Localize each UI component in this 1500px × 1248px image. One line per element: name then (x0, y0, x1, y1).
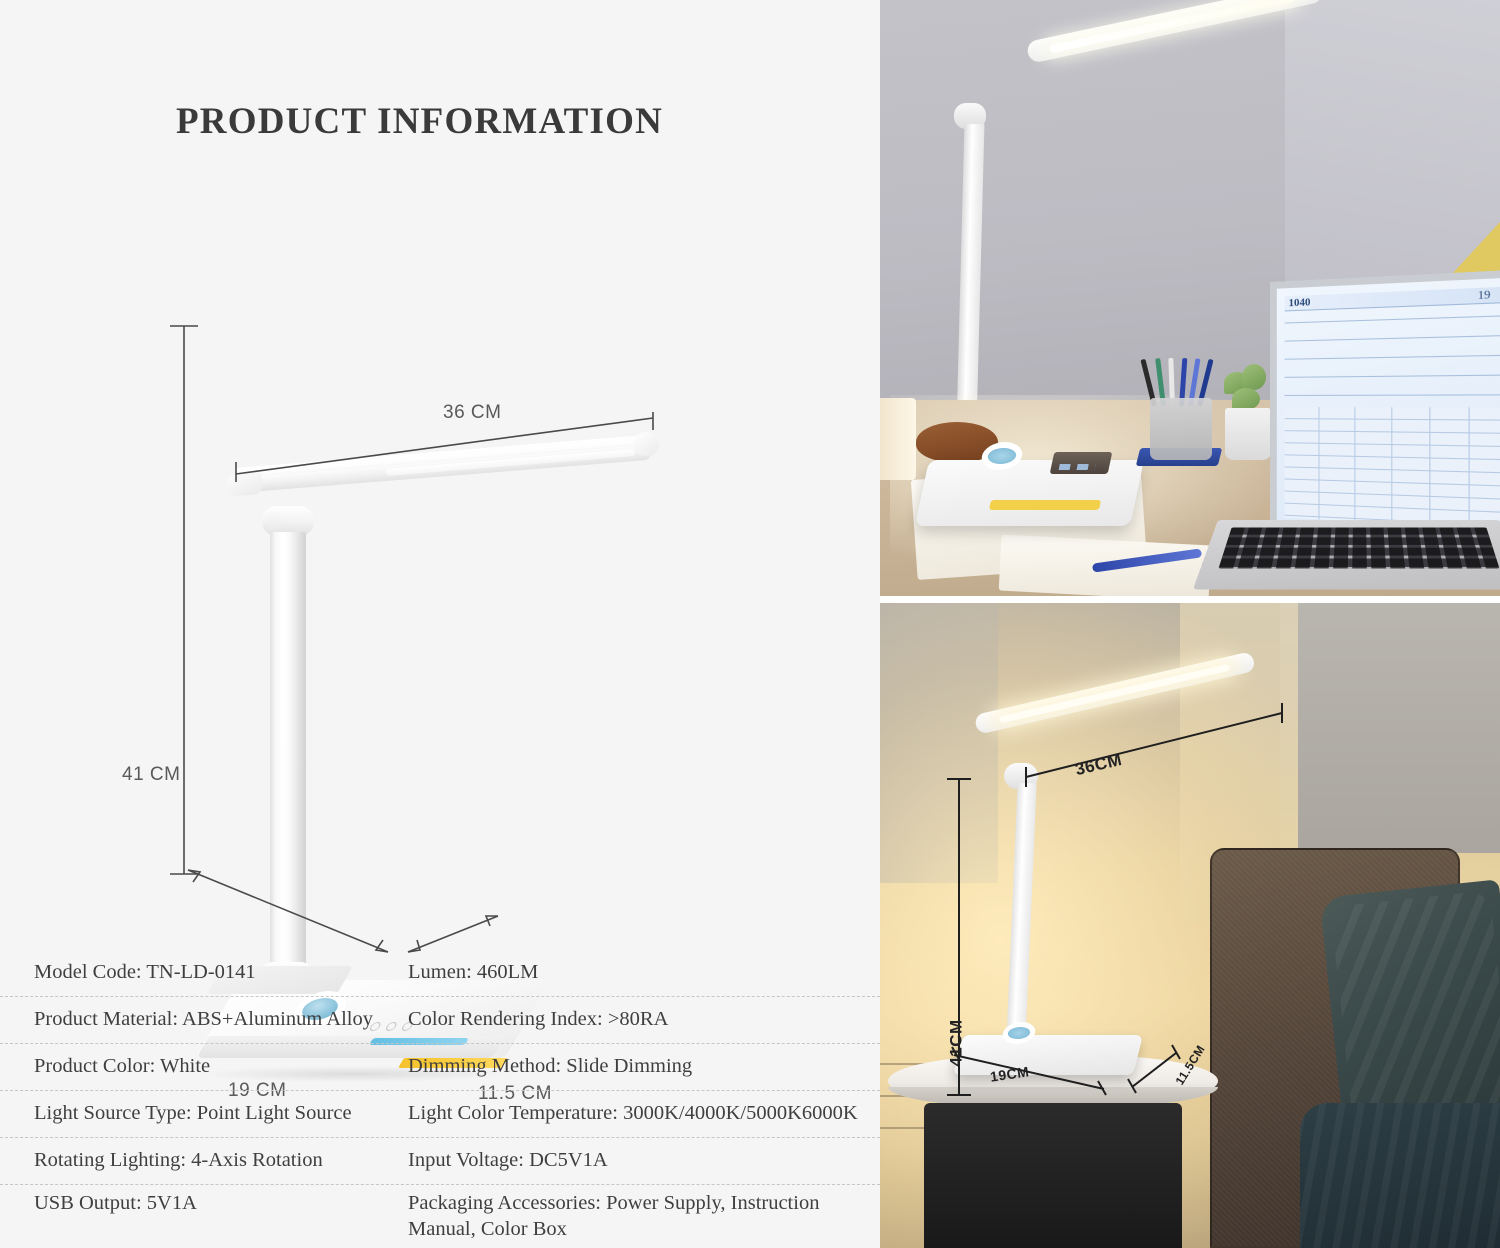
form-rule (1285, 315, 1500, 324)
spec-light-source-type: Light Source Type: Point Light Source (0, 1101, 374, 1127)
table-row: USB Output: 5V1A Packaging Accessories: … (0, 1185, 880, 1242)
photo-base-dimension-lines (946, 1031, 1216, 1101)
base-dimension-lines (180, 860, 580, 960)
table-row: Rotating Lighting: 4-Axis Rotation Input… (0, 1138, 880, 1185)
tax-form-table-grid (1285, 407, 1500, 528)
table-row: Product Material: ABS+Aluminum Alloy Col… (0, 997, 880, 1044)
spec-product-color: Product Color: White (0, 1054, 374, 1080)
paper-cup (880, 398, 916, 480)
photo-lamp-base (915, 460, 1144, 526)
nightstand-body (924, 1103, 1182, 1248)
width-dimension-label: 36 CM (443, 402, 501, 424)
photo-column: 1040 19 (880, 0, 1500, 1248)
spec-cri: Color Rendering Index: >80RA (374, 1007, 880, 1033)
plant-leaf (1232, 388, 1260, 410)
spec-dimming-method: Dimming Method: Slide Dimming (374, 1054, 880, 1080)
spec-packaging-accessories: Packaging Accessories: Power Supply, Ins… (374, 1191, 880, 1242)
tax-form-year: 19 (1478, 288, 1491, 302)
tax-form-number: 1040 (1289, 296, 1311, 309)
lamp-dimension-diagram: 36 CM 41 CM 19 CM 11.5 CM (0, 180, 880, 950)
product-information-page: PRODUCT INFORMATION (0, 0, 1500, 1248)
photo-lamp-base-yellow-strip (989, 500, 1101, 510)
wooden-desk-object (916, 422, 998, 462)
spec-input-voltage: Input Voltage: DC5V1A (374, 1148, 880, 1174)
specification-table: Model Code: TN-LD-0141 Lumen: 460LM Prod… (0, 950, 880, 1242)
left-content-column: PRODUCT INFORMATION (0, 0, 880, 1248)
laptop-screen: 1040 19 (1270, 270, 1500, 535)
spec-rotating-lighting: Rotating Lighting: 4-Axis Rotation (0, 1148, 374, 1174)
form-rule (1285, 375, 1500, 379)
spec-model-code: Model Code: TN-LD-0141 (0, 960, 374, 986)
height-dimension-label: 41 CM (122, 764, 180, 786)
spec-light-color-temperature: Light Color Temperature: 3000K/4000K/500… (374, 1101, 880, 1127)
form-rule (1285, 394, 1500, 396)
plant-leaf (1242, 364, 1266, 390)
usb-hub (1050, 452, 1113, 474)
bedroom-wall-right (1298, 603, 1500, 853)
lamp-on-bedside-table-photo: 36CM 41CM 19CM 11.5CM (880, 603, 1500, 1248)
photo-width-dimension-line (1020, 695, 1290, 785)
laptop-keyboard (1193, 520, 1500, 590)
table-row: Product Color: White Dimming Method: Sli… (0, 1044, 880, 1091)
plant-pot (1225, 408, 1271, 460)
tax-form-header: 1040 19 (1285, 287, 1500, 312)
spec-lumen: Lumen: 460LM (374, 960, 880, 986)
bed-blanket (1300, 1103, 1500, 1248)
spec-product-material: Product Material: ABS+Aluminum Alloy (0, 1007, 374, 1033)
page-title: PRODUCT INFORMATION (176, 100, 663, 143)
lamp-illustration (0, 180, 880, 950)
lamp-on-office-desk-photo: 1040 19 (880, 0, 1500, 596)
table-row: Light Source Type: Point Light Source Li… (0, 1091, 880, 1138)
form-rule (1285, 335, 1500, 342)
table-row: Model Code: TN-LD-0141 Lumen: 460LM (0, 950, 880, 997)
spec-usb-output: USB Output: 5V1A (0, 1191, 374, 1217)
height-dimension-line (168, 320, 200, 880)
form-rule (1285, 355, 1500, 360)
mesh-pen-holder (1150, 398, 1212, 460)
